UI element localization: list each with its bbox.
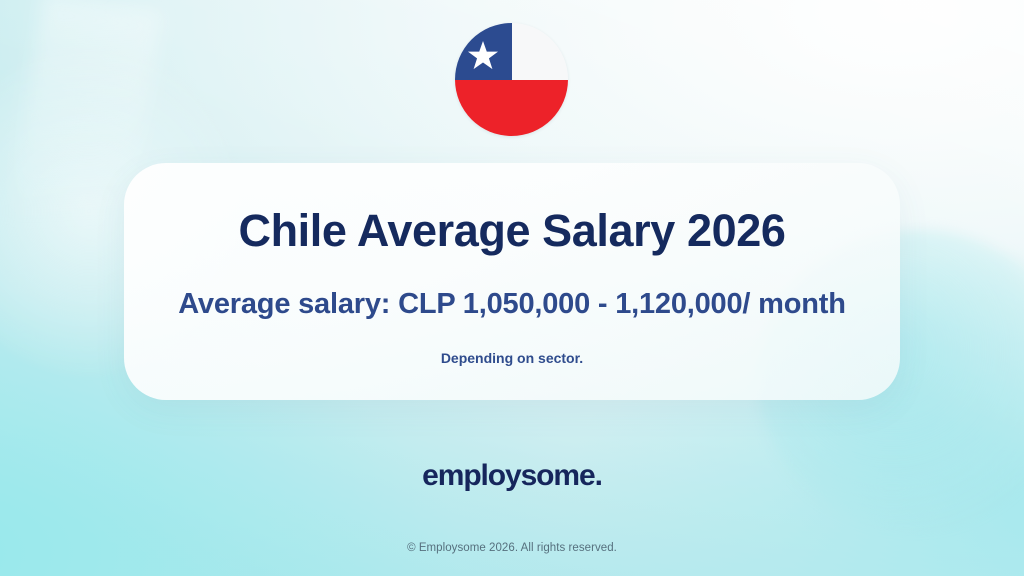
copyright-notice: © Employsome 2026. All rights reserved. bbox=[0, 542, 1024, 554]
salary-range-text: Average salary: CLP 1,050,000 - 1,120,00… bbox=[178, 288, 845, 321]
flag-star-icon bbox=[467, 40, 499, 72]
salary-note: Depending on sector. bbox=[441, 350, 583, 366]
card-content: Chile Average Salary 2026 Average salary… bbox=[124, 163, 900, 400]
slide-canvas: Chile Average Salary 2026 Average salary… bbox=[0, 0, 1024, 576]
chile-flag-icon bbox=[455, 23, 568, 136]
flag-red-band bbox=[455, 80, 568, 137]
flag-graphic bbox=[455, 23, 568, 136]
page-title: Chile Average Salary 2026 bbox=[238, 207, 785, 254]
employsome-logo: employsome. bbox=[0, 459, 1024, 493]
salary-info-card: Chile Average Salary 2026 Average salary… bbox=[124, 163, 900, 400]
